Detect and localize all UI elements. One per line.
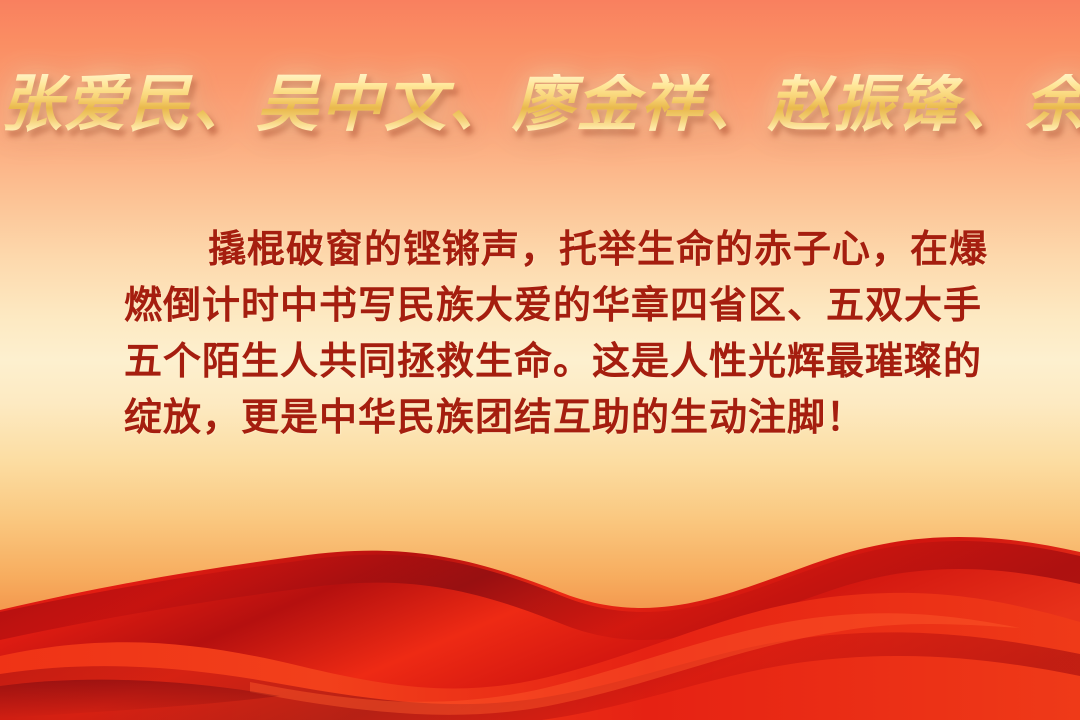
body-line: 燃倒计时中书写民族大爱的华章四省区、五双大手 bbox=[124, 278, 960, 334]
page-title-text: 张爱民、吴中文、廖金祥、赵振锋、余海龙群体 bbox=[0, 74, 1080, 136]
page-title: 张爱民、吴中文、廖金祥、赵振锋、余海龙群体 bbox=[0, 74, 1080, 136]
body-paragraph: 撬棍破窗的铿锵声，托举生命的赤子心，在爆 燃倒计时中书写民族大爱的华章四省区、五… bbox=[124, 222, 960, 446]
poster-canvas: 张爱民、吴中文、廖金祥、赵振锋、余海龙群体 张爱民、吴中文、廖金祥、赵振锋、余海… bbox=[0, 0, 1080, 720]
body-line: 五个陌生人共同拯救生命。这是人性光辉最璀璨的 bbox=[124, 334, 960, 390]
body-line: 绽放，更是中华民族团结互助的生动注脚！ bbox=[124, 390, 960, 446]
red-silk-ribbon-decoration bbox=[0, 460, 1080, 720]
body-line: 撬棍破窗的铿锵声，托举生命的赤子心，在爆 bbox=[124, 222, 960, 278]
